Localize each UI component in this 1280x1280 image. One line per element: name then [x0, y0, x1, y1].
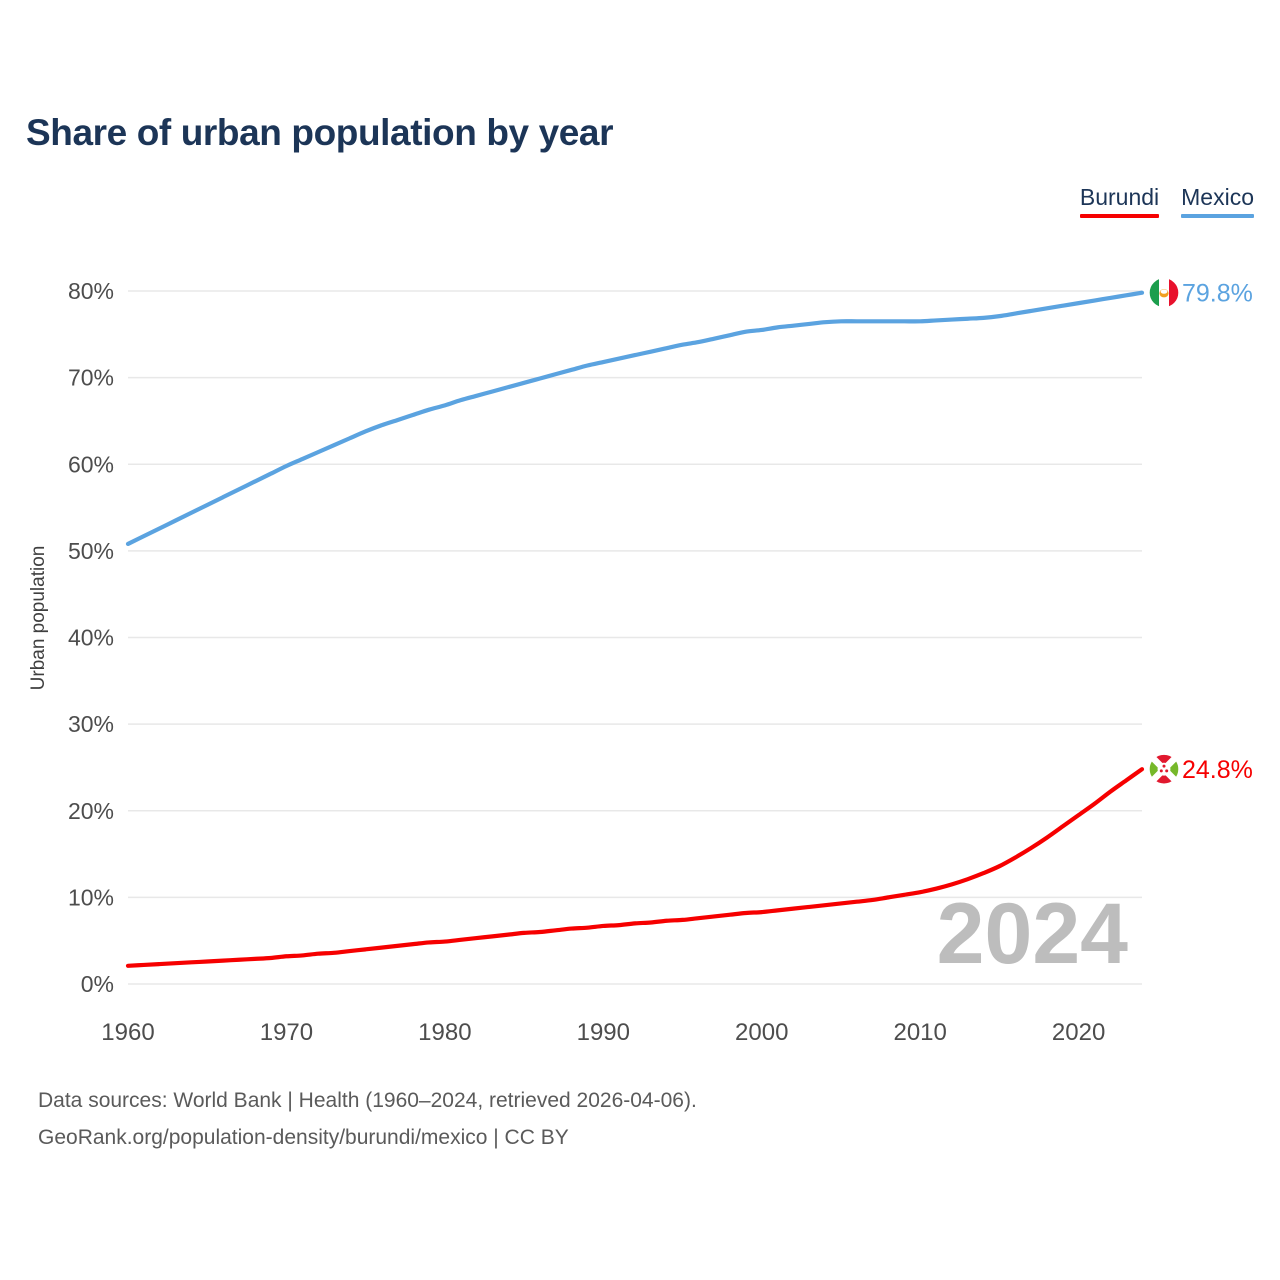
x-axis-tick-label: 1970 — [260, 1019, 313, 1046]
x-axis-tick-label: 2000 — [735, 1019, 788, 1046]
x-axis-tick-label: 1990 — [577, 1019, 630, 1046]
series-line-mexico — [128, 293, 1142, 544]
endpoint-label-burundi: 24.8% — [1182, 756, 1253, 784]
y-axis-tick-label: 0% — [81, 971, 114, 997]
footer-url-license[interactable]: GeoRank.org/population-density/burundi/m… — [38, 1119, 697, 1156]
chart-container: Share of urban population by year Burund… — [0, 0, 1280, 1280]
footer-data-sources: Data sources: World Bank | Health (1960–… — [38, 1082, 697, 1119]
y-axis-tick-label: 70% — [68, 365, 114, 391]
footer-attribution: Data sources: World Bank | Health (1960–… — [38, 1082, 697, 1156]
mexico-flag-icon — [1149, 278, 1179, 308]
y-axis-tick-label: 20% — [68, 798, 114, 824]
x-axis-tick-label: 2010 — [893, 1019, 946, 1046]
x-axis-tick-label: 2020 — [1052, 1019, 1105, 1046]
y-axis-tick-label: 50% — [68, 538, 114, 564]
x-axis-tick-label: 1980 — [418, 1019, 471, 1046]
y-axis-tick-labels: 0%10%20%30%40%50%60%70%80% — [68, 278, 114, 997]
y-axis-tick-label: 10% — [68, 884, 114, 910]
burundi-flag-icon — [1149, 754, 1179, 784]
y-axis-tick-label: 80% — [68, 278, 114, 304]
x-axis-tick-labels: 1960197019801990200020102020 — [101, 1019, 1105, 1046]
y-axis-tick-label: 60% — [68, 451, 114, 477]
endpoint-label-mexico: 79.8% — [1182, 279, 1253, 307]
y-axis-title: Urban population — [28, 546, 49, 691]
x-axis-tick-label: 1960 — [101, 1019, 154, 1046]
y-gridlines — [128, 291, 1142, 984]
y-axis-tick-label: 30% — [68, 711, 114, 737]
year-watermark: 2024 — [937, 886, 1128, 982]
y-axis-tick-label: 40% — [68, 625, 114, 651]
